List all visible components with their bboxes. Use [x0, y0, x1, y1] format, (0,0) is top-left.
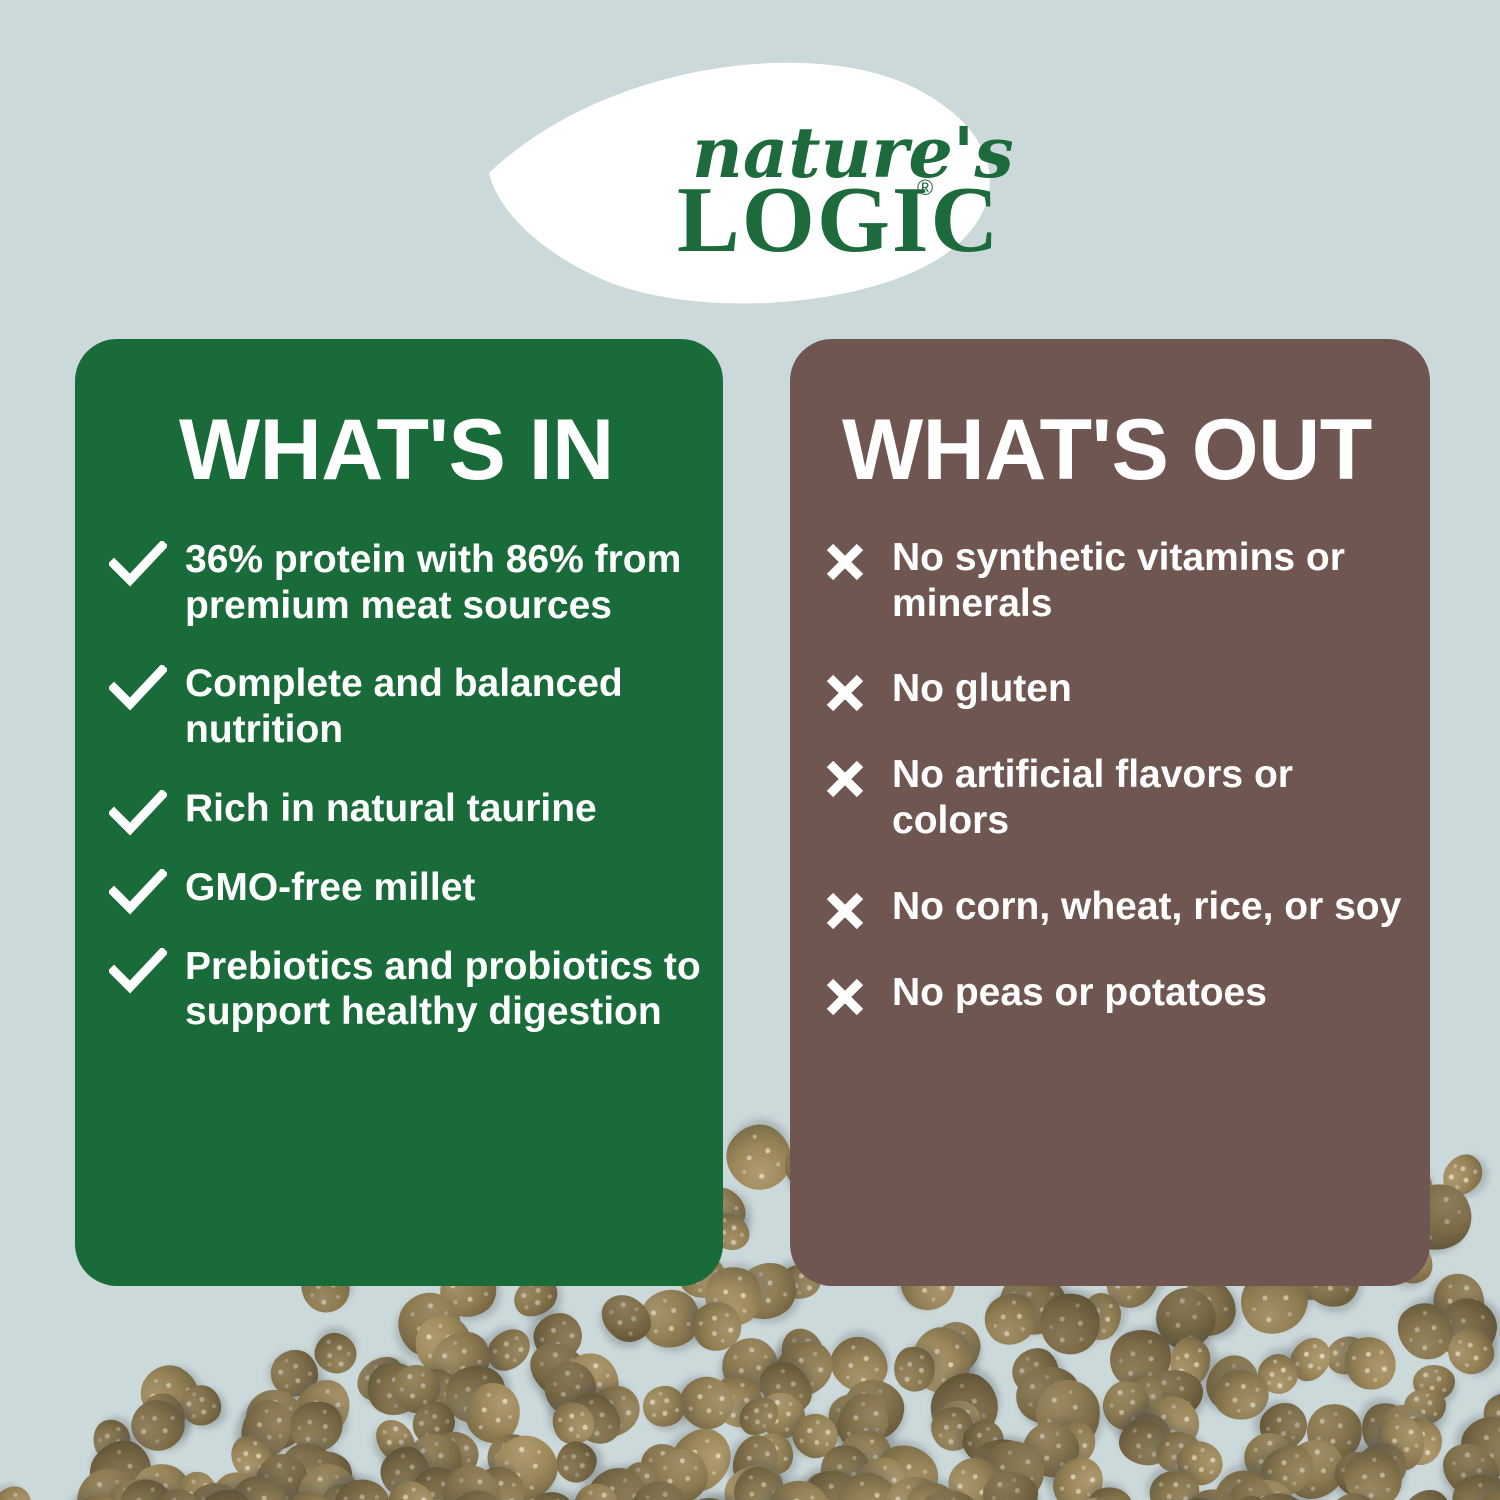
list-item-label: Rich in natural taurine [185, 786, 597, 832]
whats-out-title: WHAT'S OUT [842, 407, 1430, 493]
list-item-label: No corn, wheat, rice, or soy [892, 884, 1401, 930]
check-icon [109, 869, 167, 915]
brand-logo: nature's LOGIC ® [487, 55, 1012, 315]
list-item: No peas or potatoes [816, 970, 1416, 1016]
list-item-label: No peas or potatoes [892, 970, 1267, 1016]
check-icon [109, 665, 167, 711]
list-item: No artificial flavors or colors [816, 752, 1416, 843]
list-item: Prebiotics and probiotics to support hea… [109, 944, 709, 1035]
list-item: No synthetic vitamins or minerals [816, 535, 1416, 626]
x-icon [816, 756, 874, 802]
list-item: No corn, wheat, rice, or soy [816, 884, 1416, 930]
whats-out-list: No synthetic vitamins or minerals No glu… [816, 535, 1416, 1016]
registered-trademark-icon: ® [917, 175, 933, 200]
whats-in-title: WHAT'S IN [179, 407, 723, 493]
x-icon [816, 888, 874, 934]
list-item: Complete and balanced nutrition [109, 661, 709, 752]
list-item: 36% protein with 86% from premium meat s… [109, 537, 709, 628]
x-icon [816, 670, 874, 716]
check-icon [109, 948, 167, 994]
whats-in-list: 36% protein with 86% from premium meat s… [109, 537, 709, 1035]
list-item-label: GMO-free millet [185, 865, 475, 911]
list-item-label: Complete and balanced nutrition [185, 661, 709, 752]
x-icon [816, 539, 874, 585]
logo-main-text: LOGIC [677, 168, 1000, 272]
whats-in-card: WHAT'S IN 36% protein with 86% from prem… [75, 339, 723, 1286]
whats-out-card: WHAT'S OUT No synthetic vitamins or mine… [790, 339, 1430, 1286]
list-item: No gluten [816, 666, 1416, 712]
list-item: Rich in natural taurine [109, 786, 709, 832]
check-icon [109, 790, 167, 836]
list-item-label: No synthetic vitamins or minerals [892, 535, 1416, 626]
list-item-label: No gluten [892, 666, 1072, 712]
kibble-piece [0, 1479, 39, 1500]
list-item-label: 36% protein with 86% from premium meat s… [185, 537, 709, 628]
list-item-label: Prebiotics and probiotics to support hea… [185, 944, 709, 1035]
x-icon [816, 974, 874, 1020]
list-item: GMO-free millet [109, 865, 709, 911]
list-item-label: No artificial flavors or colors [892, 752, 1416, 843]
check-icon [109, 541, 167, 587]
